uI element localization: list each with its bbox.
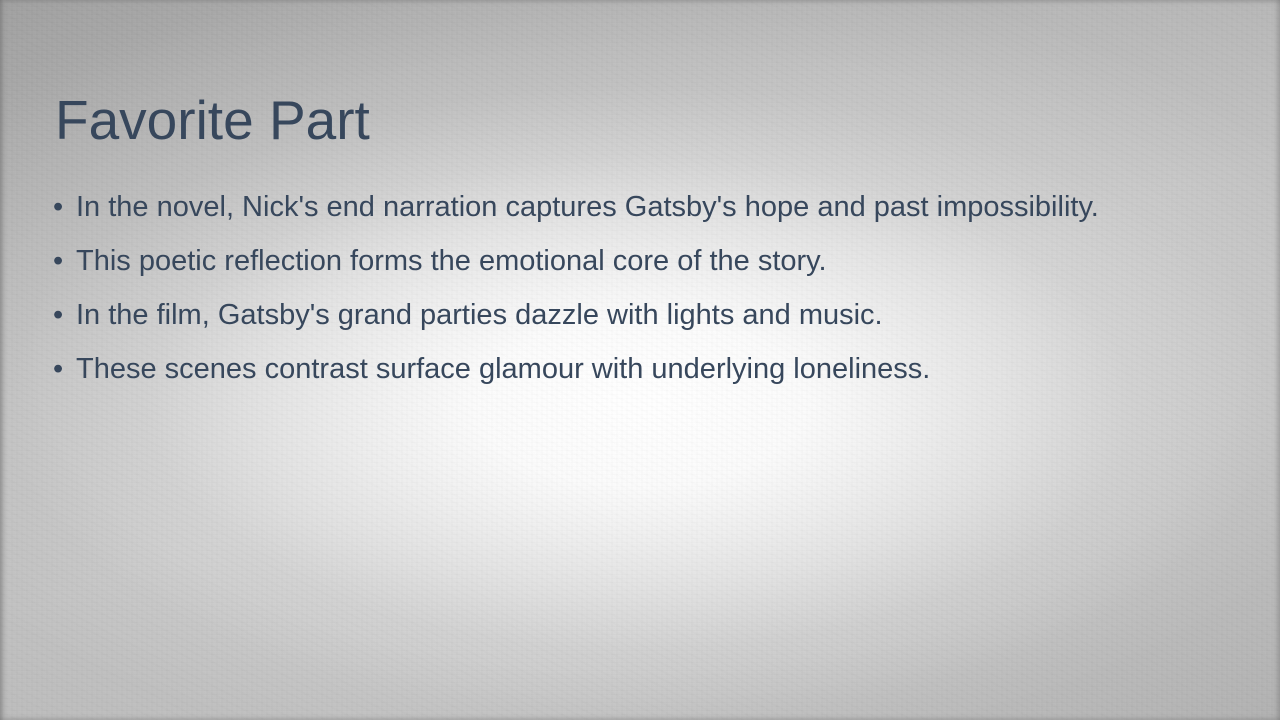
bullet-point-icon: •: [53, 294, 76, 337]
bullet-item-2: • This poetic reflection forms the emoti…: [53, 240, 1232, 294]
bullet-point-icon: •: [53, 186, 76, 229]
bullet-point-icon: •: [53, 240, 76, 283]
bullet-point-icon: •: [53, 348, 76, 391]
slide-content: Favorite Part • In the novel, Nick's end…: [0, 0, 1280, 720]
bullet-item-text: This poetic reflection forms the emotion…: [76, 240, 827, 283]
bullet-item-text: In the novel, Nick's end narration captu…: [76, 186, 1099, 229]
slide-title: Favorite Part: [55, 88, 370, 152]
presentation-slide: Favorite Part • In the novel, Nick's end…: [0, 0, 1280, 720]
bullet-item-1: • In the novel, Nick's end narration cap…: [53, 186, 1232, 240]
bullet-item-text: In the film, Gatsby's grand parties dazz…: [76, 294, 883, 337]
bullet-item-3: • In the film, Gatsby's grand parties da…: [53, 294, 1232, 348]
bullet-list: • In the novel, Nick's end narration cap…: [53, 186, 1232, 402]
bullet-item-text: These scenes contrast surface glamour wi…: [76, 348, 930, 391]
bullet-item-4: • These scenes contrast surface glamour …: [53, 348, 1232, 402]
